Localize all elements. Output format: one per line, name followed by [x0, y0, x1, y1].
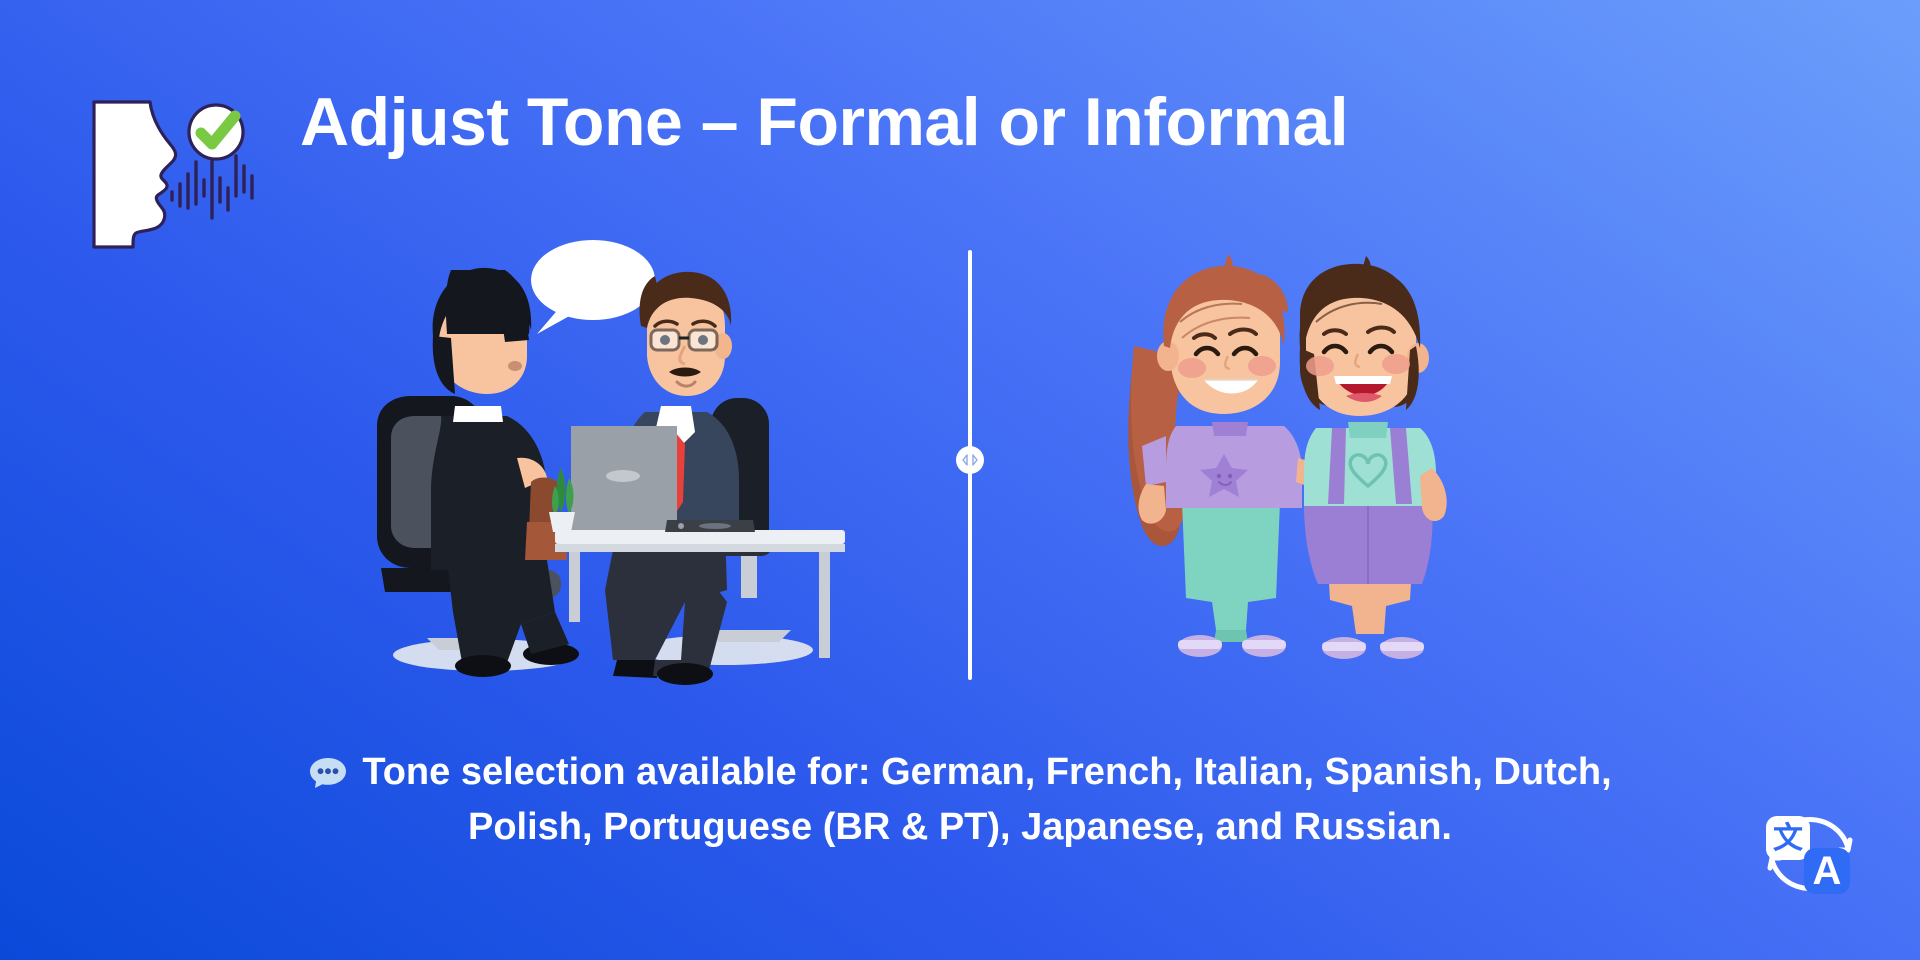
girl-right: [1300, 256, 1447, 659]
caption-line-2: Polish, Portuguese (BR & PT), Japanese, …: [150, 803, 1770, 852]
speak-check-badge: [88, 92, 278, 252]
chat-bubble-icon: [308, 754, 348, 803]
speaking-face-check-icon: [88, 92, 278, 252]
translate-icon: 文 A: [1762, 806, 1858, 902]
translate-badge[interactable]: 文 A: [1762, 806, 1858, 902]
source-language-glyph: 文: [1773, 821, 1803, 856]
target-language-glyph: A: [1813, 849, 1842, 893]
face-profile-shape: [94, 102, 176, 247]
sound-wave-bars: [172, 152, 252, 218]
left-right-arrows-icon: [956, 446, 984, 474]
formal-business-meeting-illustration: [355, 230, 865, 690]
tone-divider-slider[interactable]: [963, 250, 977, 680]
illustration-stage: [0, 230, 1920, 700]
businessman-left: [431, 268, 579, 677]
caption-block: Tone selection available for: German, Fr…: [150, 748, 1770, 853]
speech-bubble-icon: [531, 240, 655, 334]
caption-line-1: Tone selection available for: German, Fr…: [362, 751, 1611, 793]
informal-friends-illustration: [1120, 250, 1470, 670]
page-title: Adjust Tone – Formal or Informal: [300, 88, 1620, 156]
divider-handle[interactable]: [956, 446, 984, 474]
